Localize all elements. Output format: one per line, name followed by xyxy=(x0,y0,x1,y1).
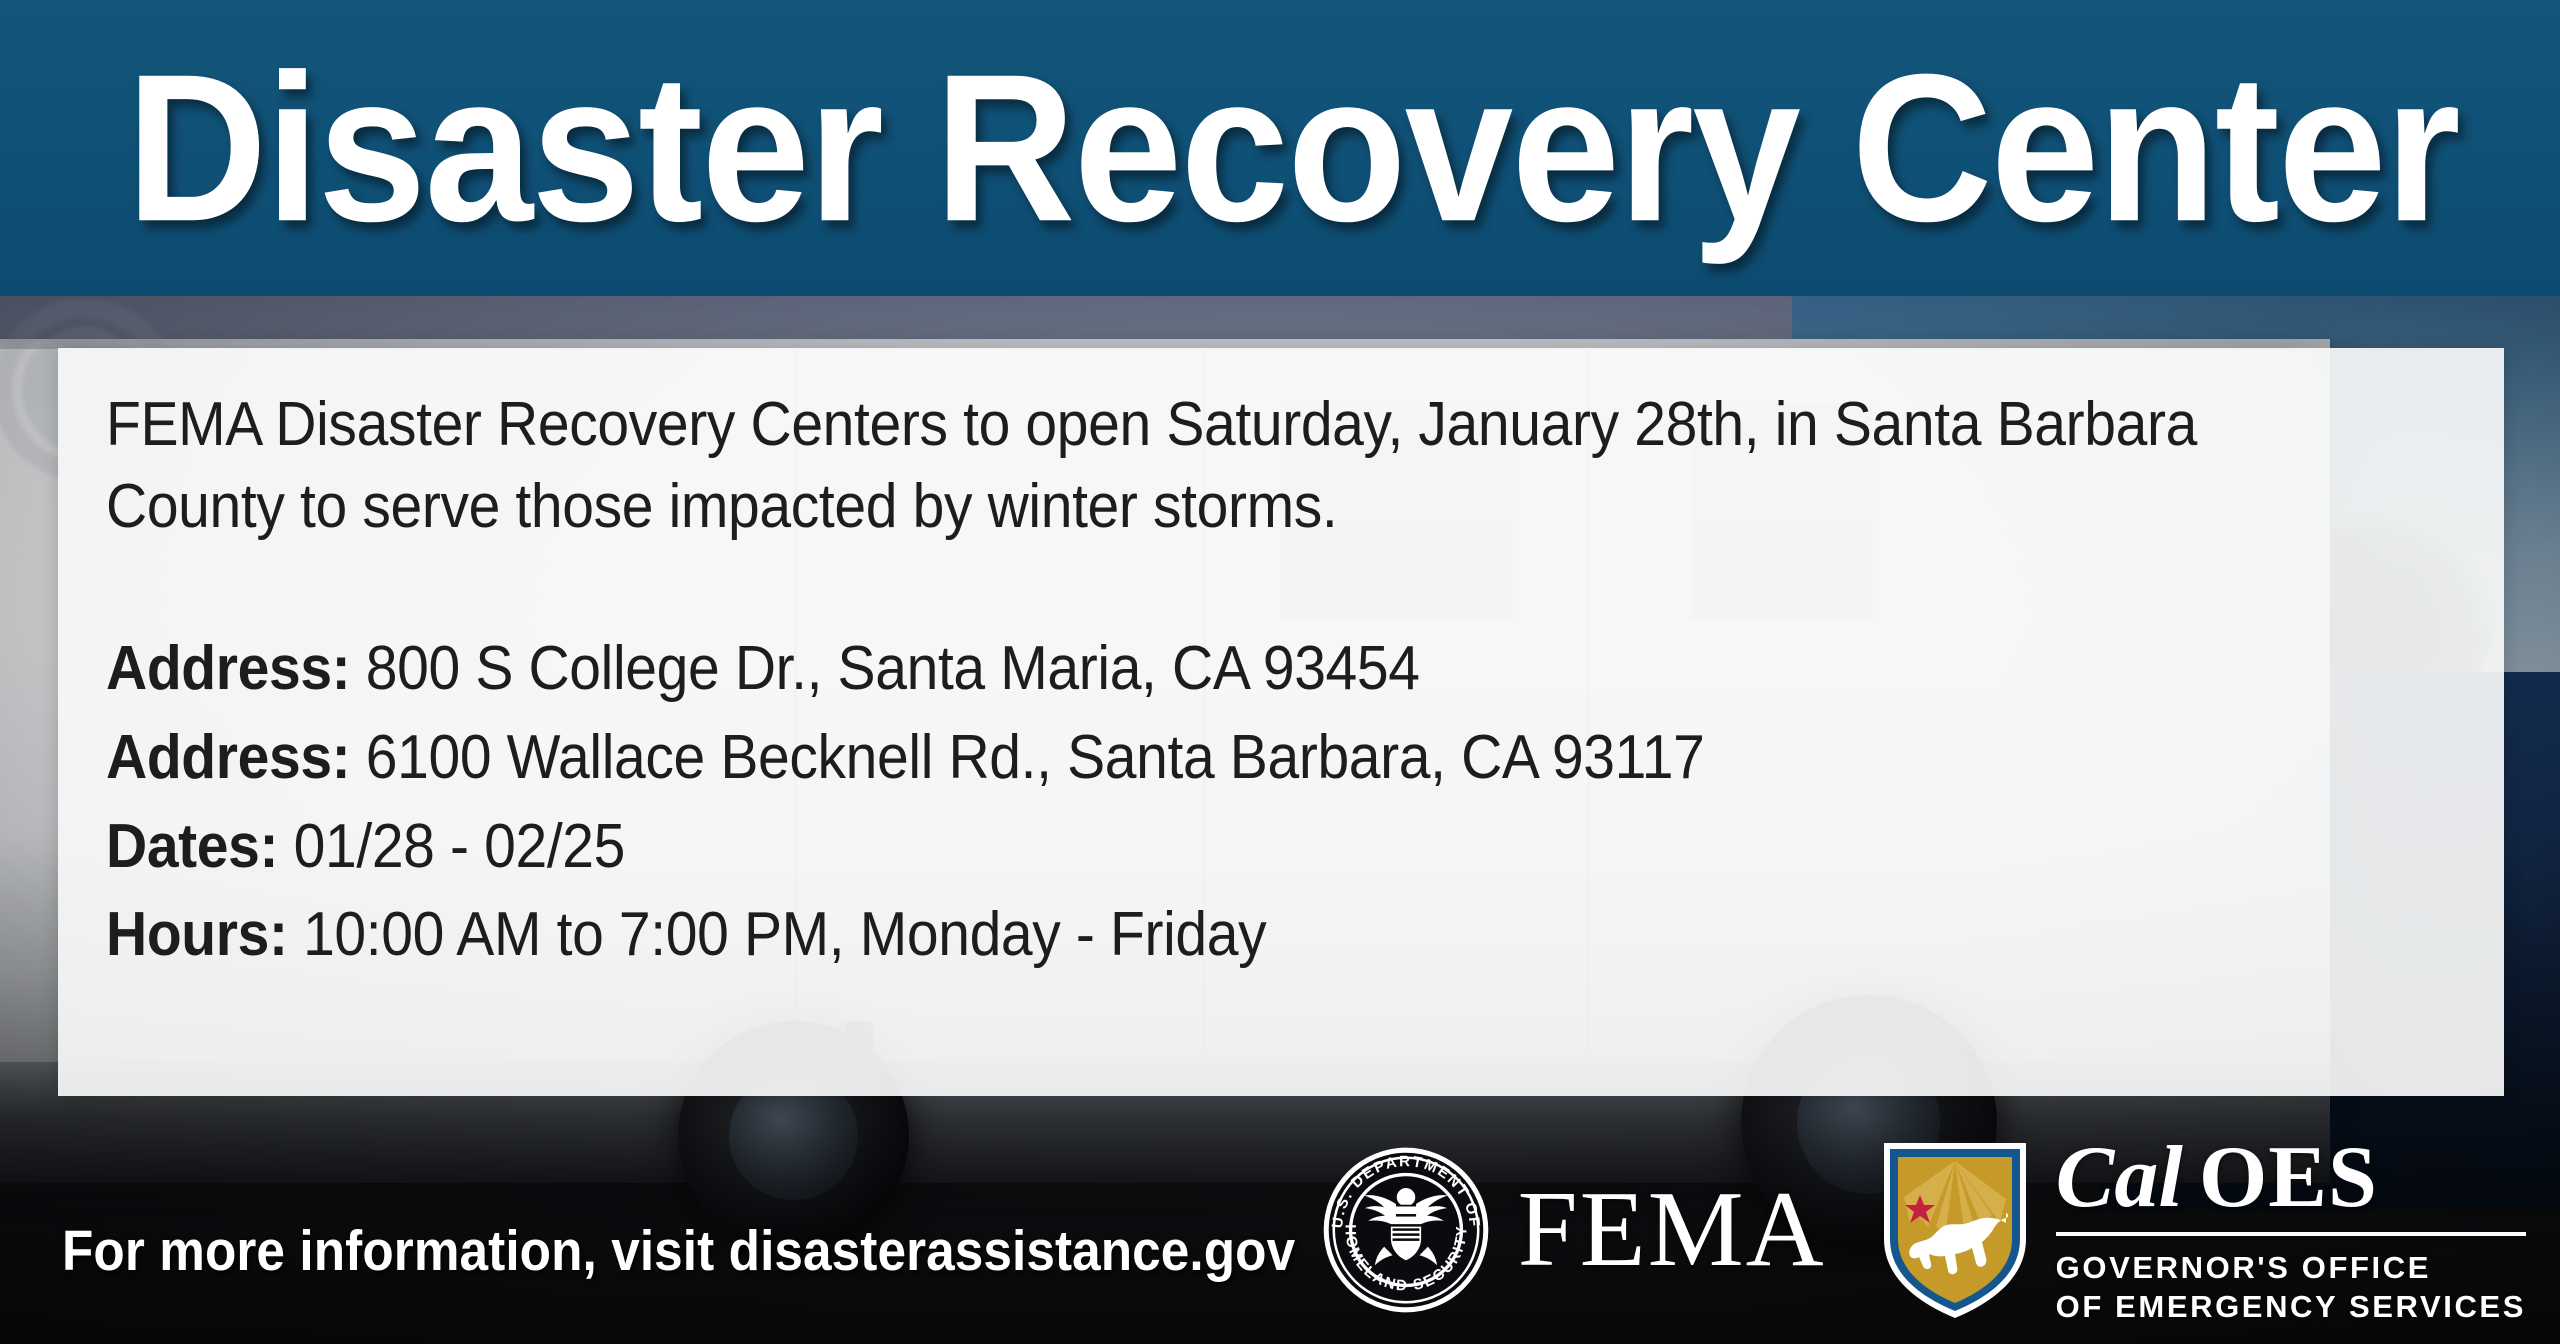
caloes-cal-text: Cal xyxy=(2056,1134,2183,1222)
caloes-wordmark: Cal OES xyxy=(2056,1134,2526,1222)
detail-value: 10:00 AM to 7:00 PM, Monday - Friday xyxy=(303,900,1266,969)
detail-row-address-1: Address: 800 S College Dr., Santa Maria,… xyxy=(106,628,2464,710)
caloes-oes-text: OES xyxy=(2199,1134,2378,1222)
detail-value: 01/28 - 02/25 xyxy=(294,812,625,881)
caloes-text-block: Cal OES GOVERNOR'S OFFICE OF EMERGENCY S… xyxy=(2056,1134,2526,1326)
detail-label: Address: xyxy=(106,634,350,703)
header-banner: Disaster Recovery Center xyxy=(0,0,2560,296)
caloes-subtitle-line-2: OF EMERGENCY SERVICES xyxy=(2056,1287,2526,1326)
caloes-shield-icon xyxy=(1880,1137,2030,1322)
intro-paragraph: FEMA Disaster Recovery Centers to open S… xyxy=(106,384,2406,549)
detail-row-dates: Dates: 01/28 - 02/25 xyxy=(106,806,2464,888)
detail-value: 800 S College Dr., Santa Maria, CA 93454 xyxy=(366,634,1420,703)
poster: Disaster Recovery Center FEMA Disaster R… xyxy=(0,0,2560,1344)
detail-label: Dates: xyxy=(106,812,278,881)
page-title-text: Disaster Recovery Center xyxy=(126,48,2459,248)
detail-row-hours: Hours: 10:00 AM to 7:00 PM, Monday - Fri… xyxy=(106,894,2464,976)
detail-value: 6100 Wallace Becknell Rd., Santa Barbara… xyxy=(366,723,1705,792)
footer-info-text: For more information, visit disasterassi… xyxy=(62,1218,1295,1284)
caloes-divider xyxy=(2056,1232,2526,1236)
footer-info-note: For more information, visit disasterassi… xyxy=(62,1218,1432,1284)
fema-lockup: U.S. DEPARTMENT OF HOMELAND SECURITY FEM… xyxy=(1322,1146,1826,1314)
content-panel: FEMA Disaster Recovery Centers to open S… xyxy=(58,348,2504,1096)
logo-row: U.S. DEPARTMENT OF HOMELAND SECURITY FEM… xyxy=(1322,1134,2526,1326)
detail-label: Address: xyxy=(106,723,350,792)
content-panel-body: FEMA Disaster Recovery Centers to open S… xyxy=(106,384,2464,983)
detail-row-address-2: Address: 6100 Wallace Becknell Rd., Sant… xyxy=(106,717,2464,799)
caloes-subtitle: GOVERNOR'S OFFICE OF EMERGENCY SERVICES xyxy=(2056,1248,2526,1326)
intro-text: FEMA Disaster Recovery Centers to open S… xyxy=(106,384,2222,549)
detail-label: Hours: xyxy=(106,900,288,969)
dhs-seal-icon: U.S. DEPARTMENT OF HOMELAND SECURITY xyxy=(1322,1146,1490,1314)
page-title: Disaster Recovery Center xyxy=(38,48,2521,248)
caloes-lockup: Cal OES GOVERNOR'S OFFICE OF EMERGENCY S… xyxy=(1880,1134,2526,1326)
caloes-subtitle-line-1: GOVERNOR'S OFFICE xyxy=(2056,1248,2526,1287)
fema-wordmark: FEMA xyxy=(1518,1176,1826,1284)
